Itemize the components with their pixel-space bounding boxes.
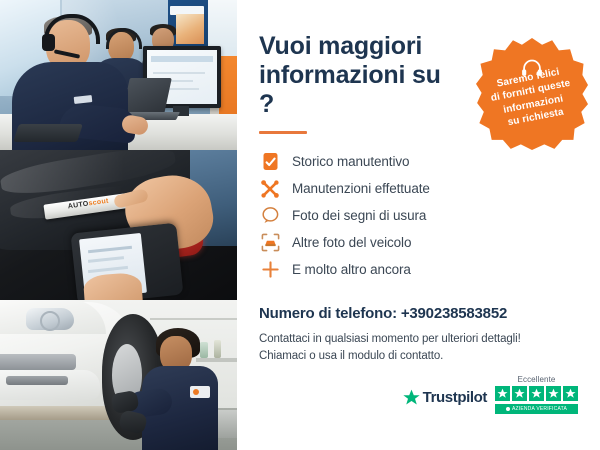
contact-note-line-1: Contattaci in qualsiasi momento per ulte… bbox=[259, 331, 578, 348]
photo-column: AUTOscout bbox=[0, 0, 237, 450]
call-center-agents-photo bbox=[0, 0, 237, 150]
mechanic-wheel-inspection-photo bbox=[0, 300, 237, 450]
car-grille bbox=[0, 354, 76, 370]
shelf-bottle bbox=[214, 340, 221, 358]
rating-star bbox=[563, 386, 578, 401]
speech-bubble-icon bbox=[259, 205, 281, 227]
feature-label: Storico manutentivo bbox=[292, 154, 409, 169]
desk-tablet bbox=[13, 124, 83, 142]
lower-grille bbox=[6, 376, 68, 385]
contact-note-line-2: Chiamaci o usa il modulo di contatto. bbox=[259, 348, 578, 365]
title-underline bbox=[259, 131, 307, 134]
feature-item-manutenzioni-effettuate: Manutenzioni effettuate bbox=[259, 175, 578, 202]
wall-poster bbox=[176, 14, 204, 44]
rating-star bbox=[546, 386, 561, 401]
advert-root: AUTOscout bbox=[0, 0, 600, 450]
callout-badge: Saremo felici di fornirti queste informa… bbox=[476, 38, 588, 150]
feature-list: Storico manutentivo Manutenzi bbox=[259, 148, 578, 283]
checklist-icon bbox=[259, 151, 281, 173]
rating-star bbox=[529, 386, 544, 401]
rating-star bbox=[512, 386, 527, 401]
content-panel: Vuoi maggiori informazioni su ? Saremo f… bbox=[237, 0, 600, 450]
wall-trim bbox=[150, 318, 237, 320]
strip-logo-text: AUTOscout bbox=[67, 198, 109, 211]
car-bumper bbox=[0, 370, 100, 400]
page-title: Vuoi maggiori informazioni su ? bbox=[259, 32, 459, 119]
headline-line-2: informazioni su ? bbox=[259, 61, 441, 118]
rating-label: Eccellente bbox=[518, 375, 556, 384]
trustpilot-wordmark: Trustpilot bbox=[423, 389, 487, 406]
verified-label: AZIENDA VERIFICATA bbox=[512, 406, 567, 412]
mechanic-badge-dot bbox=[193, 389, 199, 395]
laptop-screen bbox=[122, 78, 172, 114]
verified-check-icon bbox=[506, 407, 510, 411]
feature-label: E molto altro ancora bbox=[292, 262, 411, 277]
headlight-ring bbox=[40, 311, 60, 331]
feature-item-molto-altro: E molto altro ancora bbox=[259, 256, 578, 283]
feature-label: Altre foto del veicolo bbox=[292, 235, 411, 250]
star-rating bbox=[495, 386, 578, 401]
car-scan-icon bbox=[259, 232, 281, 254]
phone-number-label: Numero di telefono: +390238583852 bbox=[259, 305, 578, 322]
agent1-headset-earcup bbox=[42, 34, 55, 51]
tools-cross-icon bbox=[259, 178, 281, 200]
monitor-toolbar bbox=[151, 56, 213, 62]
monitor-line bbox=[153, 72, 205, 74]
car-bodywork-inspection-photo: AUTOscout bbox=[0, 150, 237, 300]
headline-line-1: Vuoi maggiori bbox=[259, 32, 422, 60]
feature-item-altre-foto-veicolo: Altre foto del veicolo bbox=[259, 229, 578, 256]
verified-business-badge: AZIENDA VERIFICATA bbox=[495, 404, 578, 414]
trustpilot-widget[interactable]: Trustpilot Eccellente bbox=[403, 375, 578, 414]
contact-note: Contattaci in qualsiasi momento per ulte… bbox=[259, 331, 578, 366]
trustpilot-rating: Eccellente bbox=[495, 375, 578, 414]
rating-star bbox=[495, 386, 510, 401]
plus-icon bbox=[259, 259, 281, 281]
feature-label: Foto dei segni di usura bbox=[292, 208, 426, 223]
trustpilot-logo[interactable]: Trustpilot bbox=[403, 389, 487, 414]
feature-item-storico-manutentivo: Storico manutentivo bbox=[259, 148, 578, 175]
feature-item-foto-segni-usura: Foto dei segni di usura bbox=[259, 202, 578, 229]
trustpilot-star-icon bbox=[403, 389, 420, 406]
shelf-bottle bbox=[200, 342, 208, 358]
feature-label: Manutenzioni effettuate bbox=[292, 181, 430, 196]
workshop-shelf bbox=[196, 358, 237, 362]
